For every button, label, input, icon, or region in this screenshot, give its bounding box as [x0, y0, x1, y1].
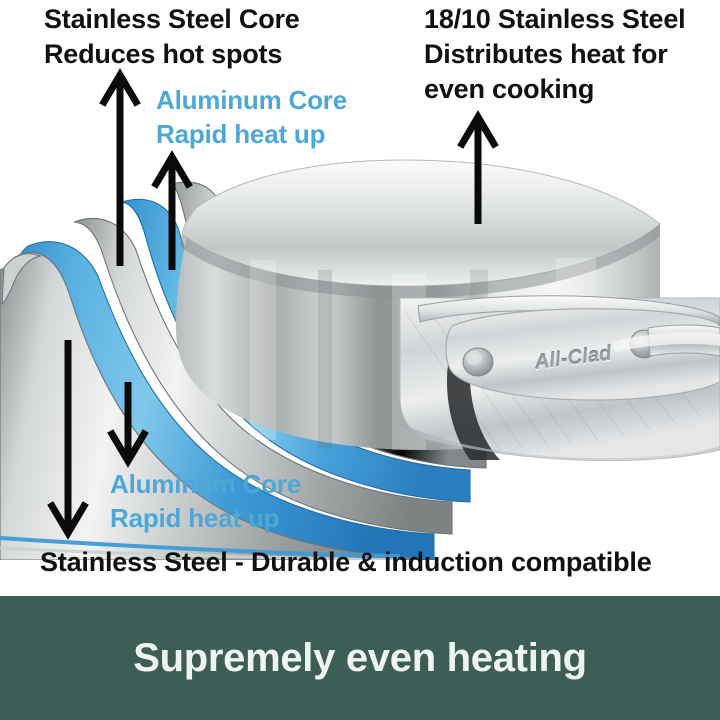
callout-18-10-stainless-steel: 18/10 Stainless Steel Distributes heat f… [424, 2, 685, 107]
bottom-banner: Supremely even heating [0, 596, 720, 720]
callout-stainless-steel-core: Stainless Steel Core Reduces hot spots [44, 2, 300, 72]
arrow-up-steel-core [100, 66, 140, 266]
banner-headline: Supremely even heating [133, 636, 587, 681]
arrow-up-outer-steel [458, 108, 498, 224]
callout-aluminum-core-top: Aluminum Core Rapid heat up [156, 84, 347, 152]
callout-aluminum-core-bottom: Aluminum Core Rapid heat up [110, 468, 301, 536]
callout-stainless-steel-durable: Stainless Steel - Durable & induction co… [40, 546, 652, 578]
arrow-down-aluminum [108, 382, 148, 470]
arrow-down-outer-steel [48, 340, 88, 542]
infographic-page: All-Clad Stainless Steel Core Reduce [0, 0, 720, 720]
arrow-up-aluminum-top [152, 148, 192, 270]
